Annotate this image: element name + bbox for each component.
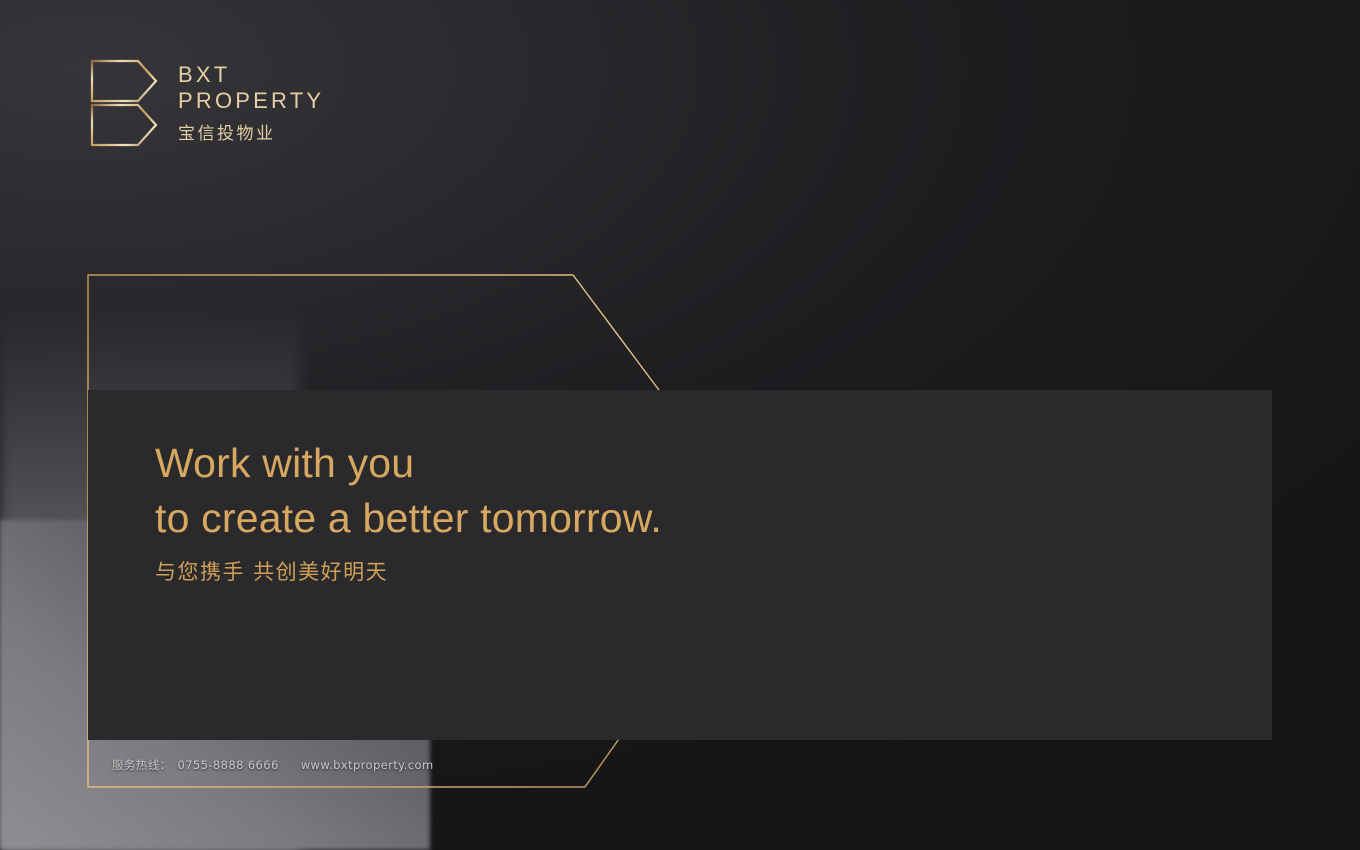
brand-name-line1: BXT	[178, 62, 324, 88]
brand-name-en: BXT PROPERTY	[178, 62, 324, 114]
footer-contact: 服务热线： 0755-8888 6666 www.bxtproperty.com	[112, 757, 434, 773]
hotline-label: 服务热线：	[112, 757, 172, 773]
headline-line-2: to create a better tomorrow.	[155, 498, 915, 539]
hero-subheadline-cn: 与您携手 共创美好明天	[155, 556, 388, 586]
headline-line-1: Work with you	[155, 443, 915, 484]
hero-headline: Work with you to create a better tomorro…	[155, 443, 915, 539]
hotline: 服务热线： 0755-8888 6666	[112, 757, 279, 773]
poster-canvas: BXT PROPERTY 宝信投物业 Work with you to crea…	[0, 0, 1360, 850]
brand-logo[interactable]: BXT PROPERTY 宝信投物业	[88, 58, 324, 148]
website-url[interactable]: www.bxtproperty.com	[301, 758, 434, 772]
brand-name-cn: 宝信投物业	[178, 119, 324, 144]
brand-name-line2: PROPERTY	[178, 88, 324, 114]
brand-wordmark: BXT PROPERTY 宝信投物业	[178, 62, 324, 144]
hotline-number: 0755-8888 6666	[178, 758, 279, 772]
bxt-b-monogram-icon	[88, 58, 160, 148]
